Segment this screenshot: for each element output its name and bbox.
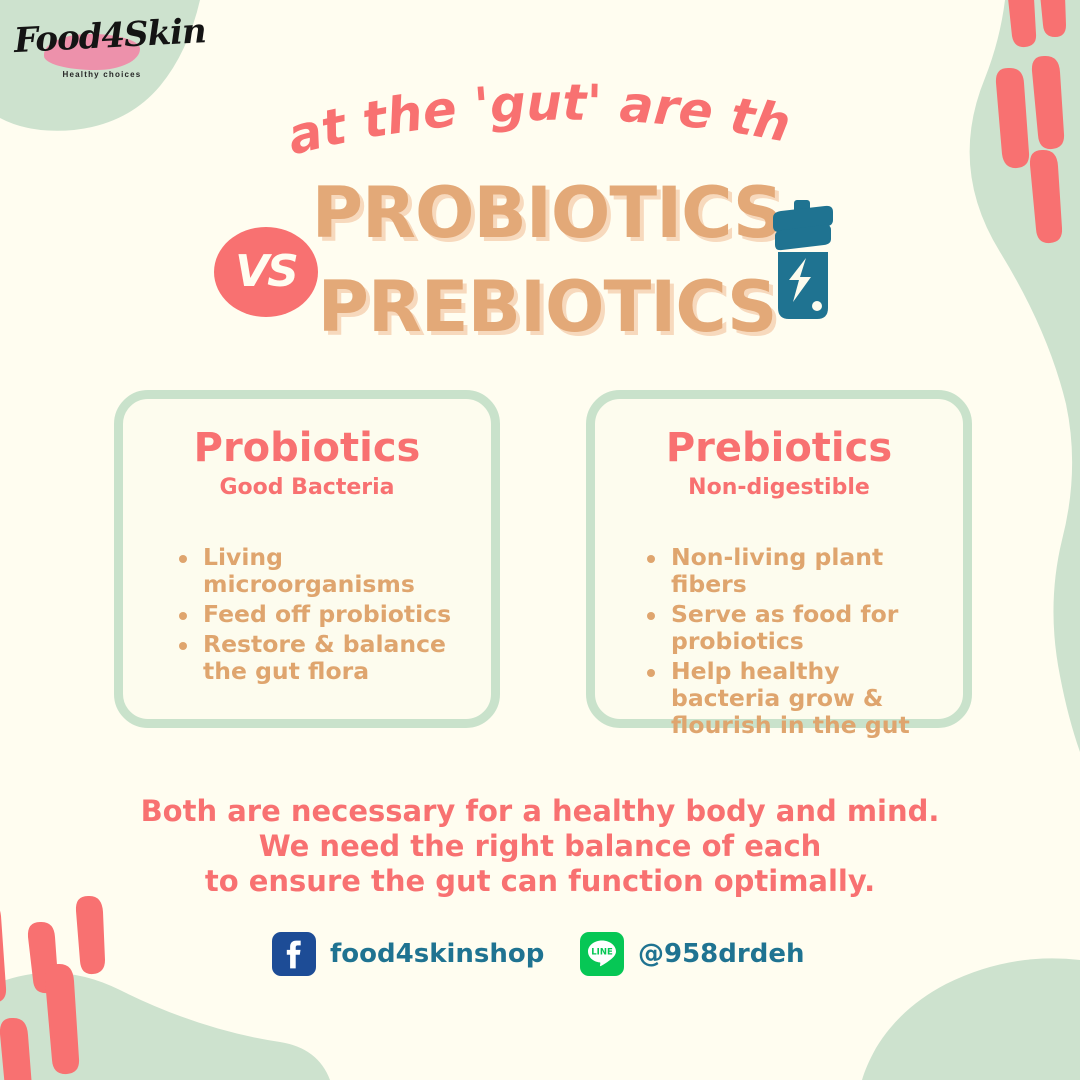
closing-line-1: Both are necessary for a healthy body an… — [0, 794, 1080, 829]
svg-text:LINE: LINE — [591, 948, 613, 958]
closing-line-2: We need the right balance of each — [0, 829, 1080, 864]
closing-line-3: to ensure the gut can function optimally… — [0, 864, 1080, 899]
shaker-bottle-icon — [757, 196, 849, 324]
title-probiotics: PROBIOTICS — [0, 178, 1080, 250]
facebook-handle[interactable]: food4skinshop — [330, 939, 544, 969]
list-item: Restore & balance the gut flora — [177, 631, 471, 685]
list-item: Help healthy bacteria grow & flourish in… — [645, 658, 943, 739]
vs-label: VS — [235, 246, 297, 297]
facebook-icon[interactable] — [272, 932, 316, 976]
list-item: Living microorganisms — [177, 544, 471, 598]
list-item: Non-living plant fibers — [645, 544, 943, 598]
title-prebiotics: PREBIOTICS — [0, 272, 1080, 344]
card-bullet-list: Non-living plant fibers Serve as food fo… — [615, 544, 943, 739]
card-probiotics: Probiotics Good Bacteria Living microorg… — [114, 390, 500, 728]
closing-statement: Both are necessary for a healthy body an… — [0, 794, 1080, 898]
logo-name: Food4Skin — [13, 16, 175, 58]
social-footer: food4skinshop LINE @958drdeh — [0, 932, 1080, 994]
vs-badge: VS — [214, 227, 318, 317]
line-handle[interactable]: @958drdeh — [638, 939, 804, 969]
card-bullet-list: Living microorganisms Feed off probiotic… — [143, 544, 471, 685]
card-subtitle: Good Bacteria — [143, 475, 471, 500]
bottle-dot — [812, 301, 822, 311]
brand-logo: Food4Skin Healthy choices — [8, 14, 178, 86]
poster-canvas: Food4Skin Healthy choices What the 'gut'… — [0, 0, 1080, 1080]
card-prebiotics: Prebiotics Non-digestible Non-living pla… — [586, 390, 972, 728]
list-item: Serve as food for probiotics — [645, 601, 943, 655]
line-icon[interactable]: LINE — [580, 932, 624, 976]
card-title: Probiotics — [143, 427, 471, 469]
card-title: Prebiotics — [615, 427, 943, 469]
logo-tagline: Healthy choices — [42, 70, 162, 79]
social-item-line[interactable]: LINE @958drdeh — [580, 932, 804, 976]
social-item-facebook[interactable]: food4skinshop — [272, 932, 544, 976]
card-subtitle: Non-digestible — [615, 475, 943, 500]
headline-question-wrap: What the 'gut' are they? — [0, 88, 1080, 168]
main-title: PROBIOTICS PREBIOTICS — [0, 178, 1080, 344]
comparison-cards: Probiotics Good Bacteria Living microorg… — [0, 390, 1080, 730]
list-item: Feed off probiotics — [177, 601, 471, 628]
